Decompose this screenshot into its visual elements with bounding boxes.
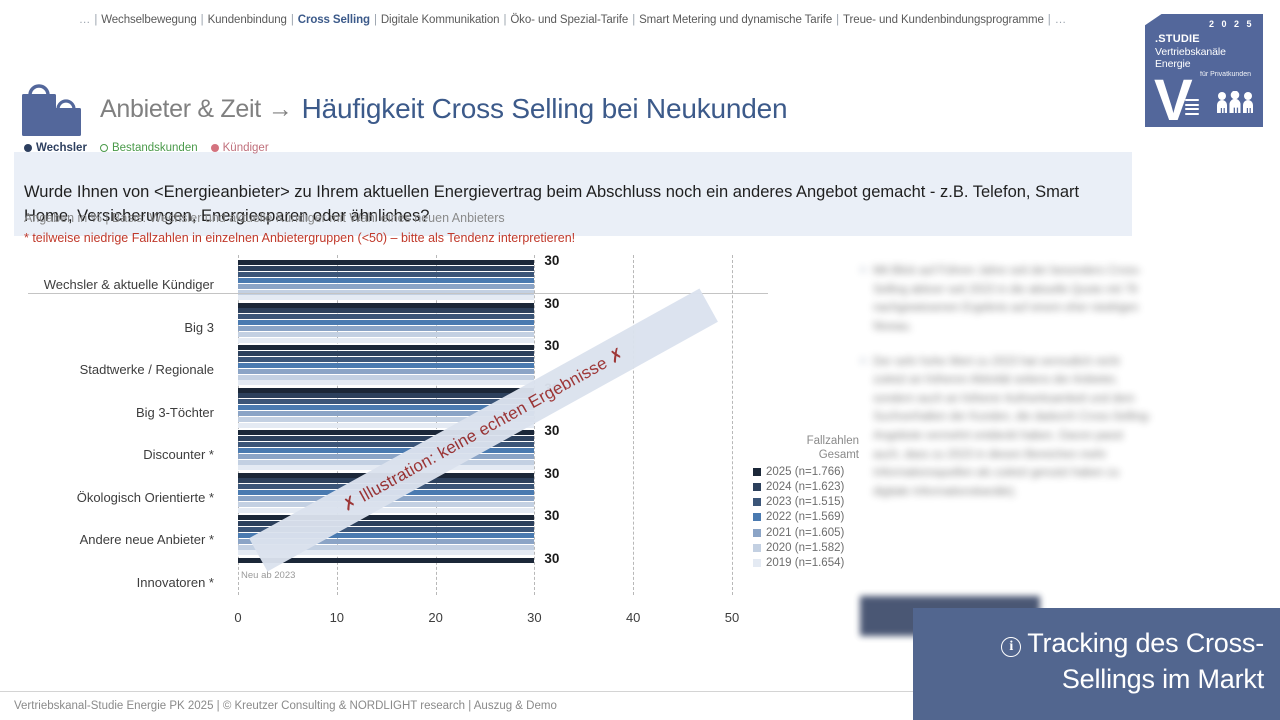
chart-bar[interactable] xyxy=(238,314,534,319)
legend-item[interactable]: 2019 (n=1.654) xyxy=(753,557,863,569)
chart-category-label: Big 3 xyxy=(184,320,214,335)
chart-category-label: Big 3-Töchter xyxy=(136,405,214,420)
legend-item[interactable]: 2022 (n=1.569) xyxy=(753,511,863,523)
chart-bar[interactable] xyxy=(238,393,534,398)
breadcrumb-item-4[interactable]: Digitale Kommunikation xyxy=(380,14,501,26)
breadcrumb-separator: | xyxy=(288,14,297,26)
segment-bestandskunden-label: Bestandskunden xyxy=(112,142,198,154)
chart-bar[interactable] xyxy=(238,278,534,283)
gridline xyxy=(534,255,535,595)
legend-item-label: 2024 (n=1.623) xyxy=(766,481,844,493)
breadcrumb-separator: | xyxy=(371,14,380,26)
shopping-bag-icon xyxy=(18,79,96,139)
legend-color-swatch xyxy=(753,468,761,476)
breadcrumb-item-2[interactable]: Kundenbindung xyxy=(207,14,288,26)
breadcrumb-separator: | xyxy=(629,14,638,26)
chart-bar[interactable] xyxy=(238,375,534,380)
chart-bar[interactable] xyxy=(238,454,534,459)
chart-bar[interactable] xyxy=(238,369,534,374)
new-since-note: Neu ab 2023 xyxy=(241,570,295,581)
segment-wechsler-label: Wechsler xyxy=(36,142,87,154)
legend-item[interactable]: 2025 (n=1.766) xyxy=(753,466,863,478)
segment-bestandskunden[interactable]: Bestandskunden xyxy=(100,142,198,154)
badge-year: 2 0 2 5 xyxy=(1209,19,1254,29)
chart-data-label: 30 xyxy=(544,423,559,438)
x-axis-tick-label: 30 xyxy=(527,610,541,625)
bullet-icon: » xyxy=(860,262,866,337)
x-axis-tick-label: 20 xyxy=(428,610,442,625)
chart-bar[interactable] xyxy=(238,266,534,271)
legend-item-label: 2025 (n=1.766) xyxy=(766,466,844,478)
commentary-text: Mit Blick auf Führen Jahre seit der beso… xyxy=(873,262,1152,337)
chart-category-label: Innovatoren * xyxy=(137,575,214,590)
breadcrumb: … | Wechselbewegung | Kundenbindung | Cr… xyxy=(0,0,1145,40)
chart-data-label: 30 xyxy=(544,508,559,523)
callout-line2: Sellings im Markt xyxy=(1062,664,1264,694)
x-axis-tick-label: 0 xyxy=(234,610,241,625)
legend-color-swatch xyxy=(753,559,761,567)
x-axis-tick-label: 10 xyxy=(330,610,344,625)
commentary-panel: » Mit Blick auf Führen Jahre seit der be… xyxy=(860,262,1152,592)
bullet-icon: » xyxy=(860,353,866,502)
chart-bar[interactable] xyxy=(238,388,534,393)
chart-data-label: 30 xyxy=(544,338,559,353)
page-title-row: Anbieter & Zeit → Häufigkeit Cross Selli… xyxy=(0,80,1145,138)
segment-wechsler[interactable]: Wechsler xyxy=(24,142,87,154)
breadcrumb-item-cross-selling[interactable]: Cross Selling xyxy=(297,14,371,26)
chart-bar[interactable] xyxy=(238,338,534,343)
chart-bar[interactable] xyxy=(238,357,534,362)
chart-bar[interactable] xyxy=(238,284,534,289)
breadcrumb-separator: | xyxy=(1045,14,1054,26)
group-separator xyxy=(28,293,768,294)
chart-bar[interactable] xyxy=(238,332,534,337)
filled-dot-icon xyxy=(24,144,32,152)
segment-kuendiger[interactable]: Kündiger xyxy=(211,142,269,154)
legend-color-swatch xyxy=(753,544,761,552)
chart-category-label: Ökologisch Orientierte * xyxy=(77,490,214,505)
chart-bar[interactable] xyxy=(238,448,534,453)
breadcrumb-item-1[interactable]: Wechselbewegung xyxy=(100,14,197,26)
chart-bar[interactable] xyxy=(238,363,534,368)
legend-color-swatch xyxy=(753,513,761,521)
badge-lines-icon xyxy=(1185,99,1199,117)
footer-divider xyxy=(0,691,913,692)
commentary-text: Der sehr hohe Wert zu 2023 hat vermutlic… xyxy=(873,353,1152,502)
breadcrumb-item-6[interactable]: Smart Metering und dynamische Tarife xyxy=(638,14,833,26)
hollow-dot-icon xyxy=(100,144,108,152)
chart-data-label: 30 xyxy=(544,466,559,481)
info-icon: i xyxy=(1001,637,1021,657)
chart-data-label: 30 xyxy=(544,296,559,311)
breadcrumb-separator: | xyxy=(833,14,842,26)
commentary-bullet: » Mit Blick auf Führen Jahre seit der be… xyxy=(860,262,1152,337)
segment-legend: Wechsler Bestandskunden Kündiger xyxy=(24,142,269,154)
chart-bar[interactable] xyxy=(238,380,534,385)
chart-category-label: Andere neue Anbieter * xyxy=(80,532,214,547)
chart-category-label: Discounter * xyxy=(143,447,214,462)
legend-item-label: 2023 (n=1.515) xyxy=(766,496,844,508)
legend-title-line2: Gesamt xyxy=(753,448,859,462)
gridline xyxy=(732,255,733,595)
chart-x-axis: 01020304050 xyxy=(238,610,732,630)
callout-banner[interactable]: iTracking des Cross- Sellings im Markt xyxy=(913,608,1280,720)
legend-item[interactable]: 2020 (n=1.582) xyxy=(753,542,863,554)
breadcrumb-item-0: … xyxy=(78,14,91,26)
chart-bar[interactable] xyxy=(238,303,534,308)
legend-color-swatch xyxy=(753,498,761,506)
x-axis-tick-label: 50 xyxy=(725,610,739,625)
page-title-prefix: Anbieter & Zeit xyxy=(100,95,261,124)
legend-item-label: 2019 (n=1.654) xyxy=(766,557,844,569)
legend-item-label: 2022 (n=1.569) xyxy=(766,511,844,523)
breadcrumb-separator: | xyxy=(500,14,509,26)
chart-bar[interactable] xyxy=(238,508,534,513)
breadcrumb-separator: | xyxy=(198,14,207,26)
study-badge-logo: 2 0 2 5 .STUDIE Vertriebskanäle Energie … xyxy=(1145,14,1263,127)
chart-bar[interactable] xyxy=(238,295,534,300)
segment-kuendiger-label: Kündiger xyxy=(223,142,269,154)
breadcrumb-item-8: … xyxy=(1054,14,1067,26)
badge-studie-label: .STUDIE xyxy=(1155,33,1255,45)
badge-subtitle-1: Vertriebskanäle Energie xyxy=(1155,46,1255,70)
legend-color-swatch xyxy=(753,529,761,537)
chart-data-label: 30 xyxy=(544,551,559,566)
page-title: Häufigkeit Cross Selling bei Neukunden xyxy=(302,93,788,125)
legend-item-label: 2020 (n=1.582) xyxy=(766,542,844,554)
commentary-bullet: » Der sehr hohe Wert zu 2023 hat vermutl… xyxy=(860,353,1152,502)
legend-item[interactable]: 2024 (n=1.623) xyxy=(753,481,863,493)
basis-note: Angaben in % | Basis: Wechsler und aktue… xyxy=(24,211,505,225)
legend-item[interactable]: 2023 (n=1.515) xyxy=(753,496,863,508)
breadcrumb-item-7[interactable]: Treue- und Kundenbindungsprogramme xyxy=(842,14,1045,26)
callout-text: iTracking des Cross- Sellings im Markt xyxy=(1001,626,1264,697)
chart-category-label: Wechsler & aktuelle Kündiger xyxy=(44,277,214,292)
chart-data-label: 30 xyxy=(544,253,559,268)
chart-bar[interactable] xyxy=(238,308,534,313)
chart-category-label: Stadtwerke / Regionale xyxy=(80,362,214,377)
people-icon xyxy=(1215,91,1255,118)
chart-bar[interactable] xyxy=(238,345,534,350)
x-axis-tick-label: 40 xyxy=(626,610,640,625)
breadcrumb-separator: | xyxy=(91,14,100,26)
arrow-icon: → xyxy=(268,95,293,124)
chart-bar[interactable] xyxy=(238,326,534,331)
legend-item-label: 2021 (n=1.605) xyxy=(766,527,844,539)
chart-bar[interactable] xyxy=(238,260,534,265)
footer-text: Vertriebskanal-Studie Energie PK 2025 | … xyxy=(14,700,557,712)
low-case-warning: * teilweise niedrige Fallzahlen in einze… xyxy=(24,231,575,245)
legend-color-swatch xyxy=(753,483,761,491)
chart-bar[interactable] xyxy=(238,320,534,325)
gridline xyxy=(633,255,634,595)
chart-bar[interactable] xyxy=(238,272,534,277)
legend-title-line1: Fallzahlen xyxy=(753,434,859,448)
chart-category-labels: Wechsler & aktuelle KündigerBig 3Stadtwe… xyxy=(0,255,222,595)
chart-bar[interactable] xyxy=(238,351,534,356)
chart-legend: Fallzahlen Gesamt 2025 (n=1.766)2024 (n=… xyxy=(753,434,863,572)
filled-dot-icon xyxy=(211,144,219,152)
legend-item[interactable]: 2021 (n=1.605) xyxy=(753,527,863,539)
legend-title: Fallzahlen Gesamt xyxy=(753,434,863,463)
callout-line1: Tracking des Cross- xyxy=(1027,628,1264,658)
breadcrumb-item-5[interactable]: Öko- und Spezial-Tarife xyxy=(509,14,629,26)
